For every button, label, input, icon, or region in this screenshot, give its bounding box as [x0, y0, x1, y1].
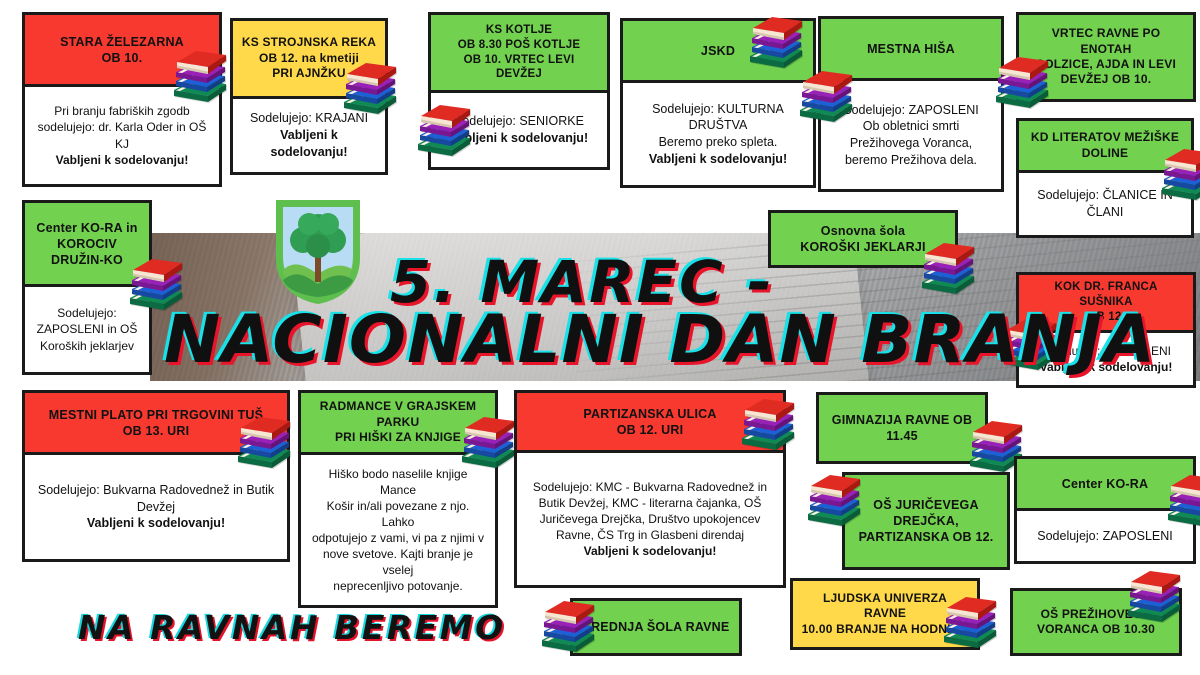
card-header-os-prezihovega-voranca: OŠ PREŽIHOVEGAVORANCA OB 10.30	[1013, 591, 1179, 653]
card-header-kd-literatov: KD LITERATOV MEŽIŠKEDOLINE	[1019, 121, 1191, 173]
card-header-os-juricevega-drejcka: OŠ JURIČEVEGADREJČKA,PARTIZANSKA OB 12.	[845, 475, 1007, 567]
card-body-radmance-grajski-park: Hiško bodo naselile knjige ManceKošir in…	[301, 455, 495, 605]
card-header-line: Center KO-RA in	[36, 220, 137, 236]
card-invite-text: Vabljeni k sodelovanju!	[242, 127, 376, 161]
card-invite-text: Vabljeni k sodelovanju!	[1040, 359, 1173, 375]
card-header-line: KS KOTLJE	[439, 23, 599, 38]
card-body-center-kora-in-korociv: Sodelujejo:ZAPOSLENI in OŠKoroških jekla…	[25, 287, 149, 372]
card-body-line: Sodelujejo: SENIORKE	[450, 113, 588, 130]
info-card-ks-strojnska-reka: KS STROJNSKA REKAOB 12. na kmetijiPRI AJ…	[230, 18, 388, 175]
card-header-ljudska-univerza-ravne: LJUDSKA UNIVERZA RAVNE10.00 BRANJE NA HO…	[793, 581, 977, 647]
card-header-line: STARA ŽELEZARNA	[60, 34, 184, 50]
card-header-line: KOROŠKI JEKLARJI	[800, 239, 925, 255]
card-body-line: Košir in/ali povezane z njo. Lahko	[310, 498, 486, 530]
card-header-partizanska-ulica: PARTIZANSKA ULICAOB 12. URI	[517, 393, 783, 453]
card-body-mestna-hisa: Sodelujejo: ZAPOSLENIOb obletnici smrtiP…	[821, 81, 1001, 189]
card-body-line: nove svetove. Kajti branje je vselej	[310, 546, 486, 578]
card-header-jskd: JSKD	[623, 21, 813, 83]
card-header-line: MESTNI PLATO PRI TRGOVINI TUŠ	[49, 407, 263, 423]
info-card-mestna-hisa: MESTNA HIŠASodelujejo: ZAPOSLENIOb oblet…	[818, 16, 1004, 192]
card-header-line: DOLINE	[1031, 146, 1179, 161]
card-body-center-kora: Sodelujejo: ZAPOSLENI	[1017, 511, 1193, 561]
card-header-line: 10.00 BRANJE NA HODNIKU	[801, 622, 969, 637]
card-header-line: DEVŽEJ OB 10.	[1027, 72, 1185, 87]
card-header-line: MESTNA HIŠA	[867, 41, 955, 57]
card-header-stara-zelezarna: STARA ŽELEZARNAOB 10.	[25, 15, 219, 87]
info-card-gimnazija-ravne: GIMNAZIJA RAVNE OB11.45	[816, 392, 988, 464]
card-header-line: KS STROJNSKA REKA	[242, 35, 376, 50]
card-body-line: Sodelujejo: Bukvarna Radovednež in Butik	[38, 482, 274, 499]
card-header-kok-franca-susnika: KOK DR. FRANCA SUŠNIKAOB 12.	[1019, 275, 1193, 333]
card-header-line: DRUŽIN-KO	[36, 252, 137, 268]
info-card-jskd: JSKDSodelujejo: KULTURNADRUŠTVABeremo pr…	[620, 18, 816, 188]
card-body-line: Koroških jeklarjev	[37, 338, 138, 354]
card-body-line: Butik Devžej, KMC - literarna čajanka, O…	[533, 495, 767, 511]
card-body-line: Sodelujejo: KULTURNA	[649, 101, 787, 118]
card-body-line: Prežihovega Voranca,	[843, 135, 979, 152]
card-header-line: Center KO-RA	[1062, 476, 1148, 492]
card-header-srednja-sola-ravne: SREDNJA ŠOLA RAVNE	[573, 601, 739, 653]
card-header-line: RADMANCE V GRAJSKEM PARKU	[309, 399, 487, 430]
card-header-radmance-grajski-park: RADMANCE V GRAJSKEM PARKUPRI HIŠKI ZA KN…	[301, 393, 495, 455]
card-invite-text: Vabljeni k sodelovanju!	[533, 543, 767, 559]
card-body-line: Pri branju fabriških zgodb	[38, 103, 207, 119]
card-invite-text: Vabljeni k sodelovanju!	[38, 152, 207, 168]
card-body-line: Hiško bodo naselile knjige Mance	[310, 466, 486, 498]
card-invite-text: Vabljeni k sodelovanju!	[38, 515, 274, 532]
card-header-line: OB 12. URI	[583, 422, 716, 438]
card-header-line: KOROCIV	[36, 236, 137, 252]
card-header-line: OŠ PREŽIHOVEGA	[1037, 607, 1155, 622]
info-card-center-kora: Center KO-RASodelujejo: ZAPOSLENI	[1014, 456, 1196, 564]
card-header-line: VRTEC RAVNE PO ENOTAH	[1027, 26, 1185, 57]
card-header-line: JSKD	[701, 43, 735, 59]
card-body-kd-literatov: Sodelujejo: ČLANICE INČLANI	[1019, 173, 1191, 235]
card-header-ks-strojnska-reka: KS STROJNSKA REKAOB 12. na kmetijiPRI AJ…	[233, 21, 385, 99]
card-header-line: PARTIZANSKA OB 12.	[859, 529, 994, 545]
card-header-ks-kotlje: KS KOTLJEOB 8.30 POŠ KOTLJEOB 10. VRTEC …	[431, 15, 607, 93]
card-header-osnovna-sola-koroski-jeklarji: Osnovna šolaKOROŠKI JEKLARJI	[771, 213, 955, 265]
card-body-line: DRUŠTVA	[649, 117, 787, 134]
card-body-line: ZAPOSLENI in OŠ	[37, 321, 138, 337]
info-card-srednja-sola-ravne: SREDNJA ŠOLA RAVNE	[570, 598, 742, 656]
card-header-line: OB 12. na kmetiji	[242, 51, 376, 66]
info-card-kok-franca-susnika: KOK DR. FRANCA SUŠNIKAOB 12.Sodelujejo: …	[1016, 272, 1196, 388]
card-body-line: beremo Prežihova dela.	[843, 152, 979, 169]
card-body-line: Sodelujejo: ZAPOSLENI	[1040, 343, 1173, 359]
info-card-os-prezihovega-voranca: OŠ PREŽIHOVEGAVORANCA OB 10.30	[1010, 588, 1182, 656]
info-card-center-kora-in-korociv: Center KO-RA inKOROCIVDRUŽIN-KOSodelujej…	[22, 200, 152, 375]
poster-canvas: 5. MAREC - NACIONALNI DAN BRANJA NA RAVN…	[0, 0, 1200, 675]
info-card-partizanska-ulica: PARTIZANSKA ULICAOB 12. URISodelujejo: K…	[514, 390, 786, 588]
card-body-line: sodelujejo: dr. Karla Oder in OŠ	[38, 119, 207, 135]
info-card-osnovna-sola-koroski-jeklarji: Osnovna šolaKOROŠKI JEKLARJI	[768, 210, 958, 268]
card-body-line: neprecenljivo potovanje.	[310, 578, 486, 594]
card-body-line: Sodelujejo: ZAPOSLENI	[1037, 528, 1173, 545]
card-header-line: SREDNJA ŠOLA RAVNE	[583, 619, 730, 635]
card-header-line: OB 10. VRTEC LEVI DEVŽEJ	[439, 53, 599, 82]
card-invite-text: Vabljeni k sodelovanju!	[649, 151, 787, 168]
info-card-ljudska-univerza-ravne: LJUDSKA UNIVERZA RAVNE10.00 BRANJE NA HO…	[790, 578, 980, 650]
poster-slogan: NA RAVNAH BEREMO	[78, 608, 506, 647]
card-body-line: Ravne, ČS Trg in Glasbeni direndaj	[533, 527, 767, 543]
card-header-line: PRI HIŠKI ZA KNJIGE	[309, 430, 487, 445]
card-body-line: Sodelujejo: KMC - Bukvarna Radovednež in	[533, 479, 767, 495]
card-header-center-kora-in-korociv: Center KO-RA inKOROCIVDRUŽIN-KO	[25, 203, 149, 287]
card-header-line: 11.45	[832, 428, 972, 444]
card-header-line: SOLZICE, AJDA IN LEVI	[1027, 57, 1185, 72]
card-body-line: KJ	[38, 136, 207, 152]
info-card-mestni-plato-tus: MESTNI PLATO PRI TRGOVINI TUŠOB 13. URIS…	[22, 390, 290, 562]
info-card-radmance-grajski-park: RADMANCE V GRAJSKEM PARKUPRI HIŠKI ZA KN…	[298, 390, 498, 608]
card-body-partizanska-ulica: Sodelujejo: KMC - Bukvarna Radovednež in…	[517, 453, 783, 585]
card-body-ks-kotlje: Sodelujejo: SENIORKEVabljeni k sodelovan…	[431, 93, 607, 167]
card-header-gimnazija-ravne: GIMNAZIJA RAVNE OB11.45	[819, 395, 985, 461]
card-body-kok-franca-susnika: Sodelujejo: ZAPOSLENIVabljeni k sodelova…	[1019, 333, 1193, 385]
card-body-ks-strojnska-reka: Sodelujejo: KRAJANIVabljeni k sodelovanj…	[233, 99, 385, 172]
info-card-ks-kotlje: KS KOTLJEOB 8.30 POŠ KOTLJEOB 10. VRTEC …	[428, 12, 610, 170]
card-body-line: Ob obletnici smrti	[843, 118, 979, 135]
info-card-stara-zelezarna: STARA ŽELEZARNAOB 10.Pri branju fabriški…	[22, 12, 222, 187]
card-body-jskd: Sodelujejo: KULTURNADRUŠTVABeremo preko …	[623, 83, 813, 185]
card-header-line: PARTIZANSKA ULICA	[583, 406, 716, 422]
card-header-line: OB 8.30 POŠ KOTLJE	[439, 38, 599, 53]
card-header-line: OB 12.	[1027, 310, 1185, 325]
card-body-line: Devžej	[38, 499, 274, 516]
info-card-vrtec-ravne: VRTEC RAVNE PO ENOTAHSOLZICE, AJDA IN LE…	[1016, 12, 1196, 102]
card-header-line: GIMNAZIJA RAVNE OB	[832, 412, 972, 428]
card-header-line: DREJČKA,	[859, 513, 994, 529]
card-body-line: ČLANI	[1037, 204, 1172, 221]
card-header-line: PRI AJNŽKU	[242, 66, 376, 81]
card-header-line: LJUDSKA UNIVERZA RAVNE	[801, 591, 969, 622]
card-body-line: odpotujejo z vami, vi pa z njimi v	[310, 530, 486, 546]
card-header-line: Osnovna šola	[800, 223, 925, 239]
card-body-line: Juričevega Drejčka, Društvo upokojencev	[533, 511, 767, 527]
card-header-line: VORANCA OB 10.30	[1037, 622, 1155, 637]
card-body-line: Beremo preko spleta.	[649, 134, 787, 151]
card-header-line: OŠ JURIČEVEGA	[859, 497, 994, 513]
card-body-mestni-plato-tus: Sodelujejo: Bukvarna Radovednež in Butik…	[25, 455, 287, 559]
card-body-line: Sodelujejo: KRAJANI	[242, 110, 376, 127]
card-header-line: KD LITERATOV MEŽIŠKE	[1031, 130, 1179, 145]
info-card-os-juricevega-drejcka: OŠ JURIČEVEGADREJČKA,PARTIZANSKA OB 12.	[842, 472, 1010, 570]
card-header-mestni-plato-tus: MESTNI PLATO PRI TRGOVINI TUŠOB 13. URI	[25, 393, 287, 455]
card-header-line: KOK DR. FRANCA SUŠNIKA	[1027, 280, 1185, 309]
card-header-center-kora: Center KO-RA	[1017, 459, 1193, 511]
card-body-line: Sodelujejo: ČLANICE IN	[1037, 187, 1172, 204]
card-header-line: OB 10.	[60, 50, 184, 66]
tree-shield-emblem-icon	[272, 196, 364, 308]
card-header-vrtec-ravne: VRTEC RAVNE PO ENOTAHSOLZICE, AJDA IN LE…	[1019, 15, 1193, 99]
card-body-line: Sodelujejo:	[37, 305, 138, 321]
card-header-mestna-hisa: MESTNA HIŠA	[821, 19, 1001, 81]
card-body-line: Sodelujejo: ZAPOSLENI	[843, 102, 979, 119]
card-body-stara-zelezarna: Pri branju fabriških zgodbsodelujejo: dr…	[25, 87, 219, 184]
card-invite-text: Vabljeni k sodelovanju!	[450, 130, 588, 147]
info-card-kd-literatov: KD LITERATOV MEŽIŠKEDOLINESodelujejo: ČL…	[1016, 118, 1194, 238]
card-header-line: OB 13. URI	[49, 423, 263, 439]
